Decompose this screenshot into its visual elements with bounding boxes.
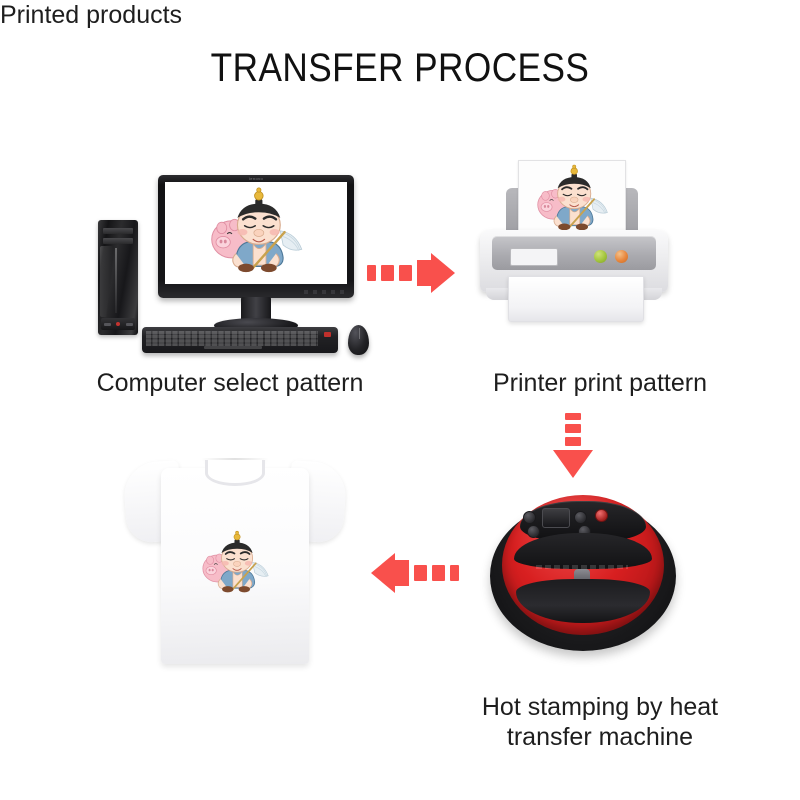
caption-heat-press: Hot stamping by heat transfer machine: [450, 692, 750, 752]
pc-tower-drive-bay: [103, 238, 133, 244]
pc-tower-highlight: [100, 246, 113, 317]
cartoon-boy-with-pig-artwork: [165, 182, 347, 284]
keyboard-spacebar: [204, 346, 262, 349]
infographic-page: TRANSFER PROCESS lenovo: [0, 0, 800, 800]
caption-computer: Computer select pattern: [50, 368, 410, 398]
step-heat-press: [490, 495, 680, 655]
mouse-icon: [348, 325, 369, 355]
mouse-button-split: [359, 328, 360, 339]
caption-printer: Printer print pattern: [455, 368, 745, 398]
pc-tower-drive-bay: [103, 228, 133, 234]
pc-tower-usb-port: [126, 323, 133, 326]
keyboard-keys: [146, 331, 318, 346]
monitor-control-buttons: [304, 290, 344, 294]
keyboard-icon: [142, 327, 338, 353]
step-computer: lenovo: [90, 175, 370, 360]
heat-press-lcd-display: [542, 508, 570, 528]
keyboard-power-key: [324, 332, 331, 337]
arrow-left-icon: [357, 552, 461, 594]
pc-tower-power-led: [116, 322, 120, 326]
cartoon-boy-with-pig-artwork: [519, 161, 625, 235]
monitor-icon: lenovo: [158, 175, 354, 298]
step-printer: [470, 160, 700, 360]
pc-tower-seam: [115, 248, 117, 313]
step-printed-shirt: [125, 450, 345, 665]
monitor-brand-logo: lenovo: [249, 176, 263, 181]
printer-lcd-display: [510, 248, 558, 266]
shirt-collar: [205, 460, 265, 486]
pc-tower-usb-port: [104, 323, 111, 326]
printer-output-tray: [508, 276, 644, 322]
shirt-print-artwork: [187, 522, 283, 604]
heat-press-temp-down-button[interactable]: [527, 525, 540, 538]
printed-paper-sheet: [518, 160, 626, 236]
page-title: TRANSFER PROCESS: [48, 46, 752, 91]
cartoon-boy-with-pig-artwork: [187, 522, 283, 604]
heat-press-temp-up-button[interactable]: [523, 511, 536, 524]
monitor-screen: [165, 182, 347, 284]
caption-printed-products: Printed products: [0, 0, 182, 30]
printer-feed-button[interactable]: [615, 250, 628, 263]
arrow-right-icon: [365, 252, 457, 294]
printer-power-button[interactable]: [594, 250, 607, 263]
arrow-down-icon: [552, 412, 594, 480]
heat-press-power-button[interactable]: [595, 509, 608, 522]
pc-tower-icon: [98, 220, 138, 335]
heat-press-time-up-button[interactable]: [574, 511, 587, 524]
